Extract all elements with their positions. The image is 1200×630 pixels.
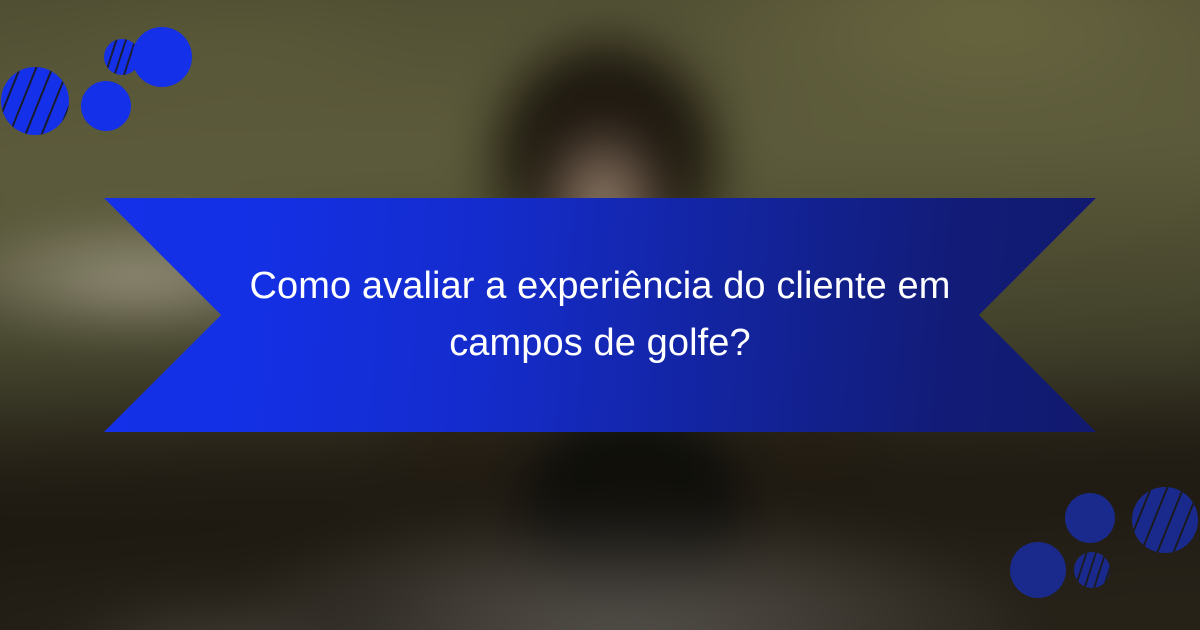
stripe-pattern: [1074, 552, 1110, 588]
circle-striped-large: [1132, 487, 1198, 553]
circle-solid-large: [1065, 493, 1115, 543]
decoration-cluster-bottom-right: [0, 0, 1200, 630]
circle-striped-small: [1074, 552, 1110, 588]
social-card: Como avaliar a experiência do cliente em…: [0, 0, 1200, 630]
stripe-pattern: [1132, 487, 1198, 553]
circle-solid-medium: [1010, 542, 1066, 598]
